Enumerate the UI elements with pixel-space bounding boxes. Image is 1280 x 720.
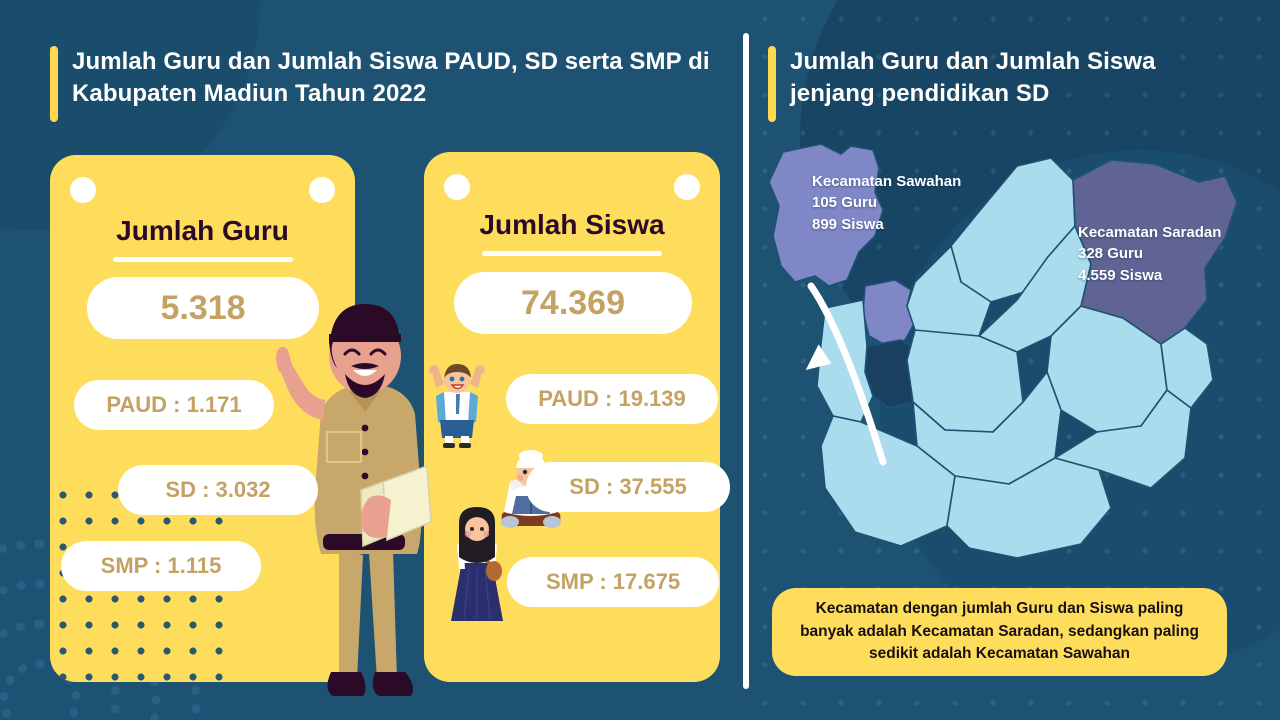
card-guru-title-rule xyxy=(113,257,293,262)
map-label-saradan-students: 4.559 Siswa xyxy=(1078,265,1221,286)
left-panel-heading: Jumlah Guru dan Jumlah Siswa PAUD, SD se… xyxy=(50,46,710,122)
girl-student-illustration xyxy=(447,505,507,625)
map-region-sawahan-connector xyxy=(863,280,915,346)
right-heading-text: Jumlah Guru dan Jumlah Siswa jenjang pen… xyxy=(790,46,1238,110)
heading-accent-bar xyxy=(768,46,776,122)
card-peg-left-icon xyxy=(70,177,96,203)
map-label-saradan-district: Kecamatan Saradan xyxy=(1078,222,1221,243)
card-siswa-breakdown-sd: SD : 37.555 xyxy=(526,462,730,512)
conclusion-note-box: Kecamatan dengan jumlah Guru dan Siswa p… xyxy=(772,588,1227,676)
map-label-saradan: Kecamatan Saradan 328 Guru 4.559 Siswa xyxy=(1078,222,1221,286)
map-label-sawahan: Kecamatan Sawahan 105 Guru 899 Siswa xyxy=(812,171,961,235)
card-siswa-breakdown-smp: SMP : 17.675 xyxy=(507,557,719,607)
card-guru-breakdown-sd: SD : 3.032 xyxy=(118,465,318,515)
card-peg-left-icon xyxy=(444,174,470,200)
card-guru-breakdown-smp: SMP : 1.115 xyxy=(61,541,261,591)
card-siswa-total: 74.369 xyxy=(454,272,692,334)
map-label-sawahan-teachers: 105 Guru xyxy=(812,192,961,213)
map-label-saradan-teachers: 328 Guru xyxy=(1078,243,1221,264)
card-siswa-title: Jumlah Siswa xyxy=(424,209,720,241)
card-peg-right-icon xyxy=(674,174,700,200)
card-guru-breakdown-paud: PAUD : 1.171 xyxy=(74,380,274,430)
card-peg-right-icon xyxy=(309,177,335,203)
panel-divider xyxy=(743,33,749,689)
left-heading-text: Jumlah Guru dan Jumlah Siswa PAUD, SD se… xyxy=(72,46,710,110)
boy-student-illustration xyxy=(426,358,488,448)
card-siswa-title-rule xyxy=(482,251,662,256)
right-panel-heading: Jumlah Guru dan Jumlah Siswa jenjang pen… xyxy=(768,46,1238,122)
conclusion-note-text: Kecamatan dengan jumlah Guru dan Siswa p… xyxy=(788,598,1211,665)
card-guru-title: Jumlah Guru xyxy=(50,215,355,247)
heading-accent-bar xyxy=(50,46,58,122)
map-label-sawahan-students: 899 Siswa xyxy=(812,214,961,235)
map-label-sawahan-district: Kecamatan Sawahan xyxy=(812,171,961,192)
card-siswa-breakdown-paud: PAUD : 19.139 xyxy=(506,374,718,424)
